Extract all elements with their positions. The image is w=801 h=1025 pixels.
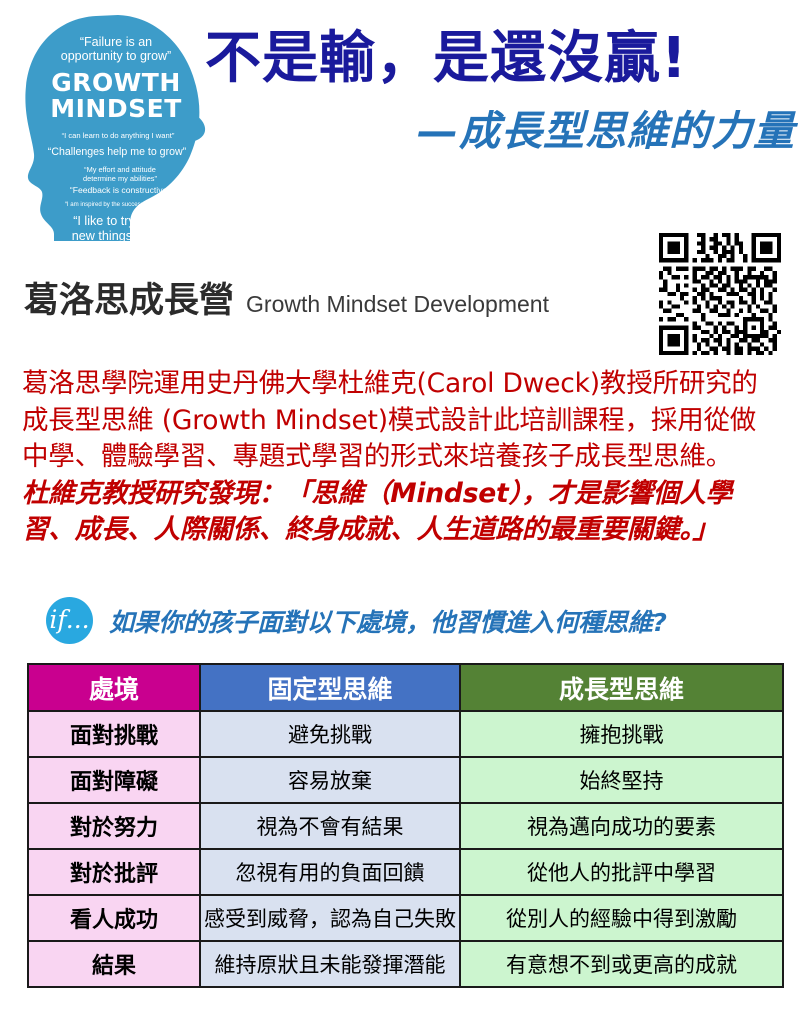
cell-growth: 從他人的批評中學習 — [460, 849, 783, 895]
cell-situation: 面對障礙 — [28, 757, 200, 803]
table-row: 結果 維持原狀且未能發揮潛能 有意想不到或更高的成就 — [28, 941, 783, 987]
cell-growth: 視為邁向成功的要素 — [460, 803, 783, 849]
table-row: 對於批評 忽視有用的負面回饋 從他人的批評中學習 — [28, 849, 783, 895]
cell-fixed: 忽視有用的負面回饋 — [200, 849, 460, 895]
question-row: if... 如果你的孩子面對以下處境，他習慣進入何種思維? — [46, 597, 667, 644]
paragraph-line-emphasis: 習、成長、人際關係、終身成就、人生道路的最重要關鍵。」 — [22, 512, 722, 549]
title-block: 不是輸，是還沒贏! —成長型思維的力量 — [205, 30, 795, 157]
cell-fixed: 容易放棄 — [200, 757, 460, 803]
table-header-growth: 成長型思維 — [460, 664, 783, 711]
growth-mindset-head-icon: “Failure is an opportunity to grow” GROW… — [18, 14, 214, 242]
if-badge-icon: if... — [46, 597, 93, 644]
table-header-situation: 處境 — [28, 664, 200, 711]
table-header-fixed: 固定型思維 — [200, 664, 460, 711]
table-row: 面對挑戰 避免挑戰 擁抱挑戰 — [28, 711, 783, 757]
cell-situation: 看人成功 — [28, 895, 200, 941]
paragraph-line-emphasis: 杜維克教授研究發現：「思維（Mindset），才是影響個人學 — [22, 476, 722, 513]
brand-name-cn: 葛洛思成長營 — [24, 272, 234, 323]
table-header-row: 處境 固定型思維 成長型思維 — [28, 664, 783, 711]
qr-code-icon[interactable] — [659, 233, 781, 355]
cell-growth: 有意想不到或更高的成就 — [460, 941, 783, 987]
mindset-comparison-table: 處境 固定型思維 成長型思維 面對挑戰 避免挑戰 擁抱挑戰 面對障礙 容易放棄 … — [27, 663, 782, 988]
cell-fixed: 避免挑戰 — [200, 711, 460, 757]
page-subtitle: —成長型思維的力量 — [205, 97, 795, 157]
cell-situation: 對於批評 — [28, 849, 200, 895]
brand-row: 葛洛思成長營 Growth Mindset Development — [24, 272, 664, 323]
cell-situation: 面對挑戰 — [28, 711, 200, 757]
cell-growth: 擁抱挑戰 — [460, 711, 783, 757]
intro-paragraph: 葛洛思學院運用史丹佛大學杜維克(Carol Dweck)教授所研究的 成長型思維… — [22, 366, 722, 549]
brand-name-en: Growth Mindset Development — [246, 291, 549, 318]
cell-growth: 從別人的經驗中得到激勵 — [460, 895, 783, 941]
paragraph-line: 葛洛思學院運用史丹佛大學杜維克(Carol Dweck)教授所研究的 — [22, 366, 722, 403]
table-row: 對於努力 視為不會有結果 視為邁向成功的要素 — [28, 803, 783, 849]
cell-fixed: 維持原狀且未能發揮潛能 — [200, 941, 460, 987]
paragraph-line: 成長型思維 (Growth Mindset)模式設計此培訓課程，採用從做 — [22, 403, 722, 440]
cell-fixed: 視為不會有結果 — [200, 803, 460, 849]
header: “Failure is an opportunity to grow” GROW… — [0, 0, 801, 245]
table-row: 看人成功 感受到威脅，認為自己失敗 從別人的經驗中得到激勵 — [28, 895, 783, 941]
table-row: 面對障礙 容易放棄 始終堅持 — [28, 757, 783, 803]
cell-fixed: 感受到威脅，認為自己失敗 — [200, 895, 460, 941]
cell-situation: 對於努力 — [28, 803, 200, 849]
page-title: 不是輸，是還沒贏! — [205, 30, 795, 87]
cell-situation: 結果 — [28, 941, 200, 987]
cell-growth: 始終堅持 — [460, 757, 783, 803]
question-text: 如果你的孩子面對以下處境，他習慣進入何種思維? — [109, 603, 667, 639]
paragraph-line: 中學、體驗學習、專題式學習的形式來培養孩子成長型思維。 — [22, 439, 722, 476]
